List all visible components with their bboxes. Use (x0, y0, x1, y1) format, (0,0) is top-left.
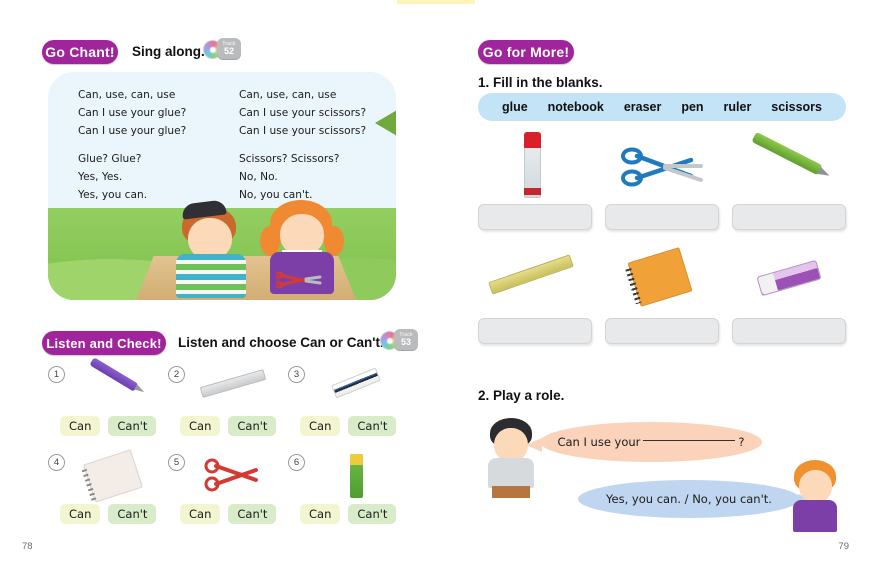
girl-avatar (788, 460, 844, 536)
track-badge: Track 53 (394, 329, 418, 351)
bubble-boy-prefix: Can I use your (557, 435, 640, 449)
answer-input-1[interactable] (478, 204, 592, 230)
choice-can[interactable]: Can (180, 504, 220, 524)
listen-item-5: 5 Can Can't (168, 450, 288, 538)
answer-input-5[interactable] (605, 318, 719, 344)
answer-input-6[interactable] (732, 318, 846, 344)
answer-input-3[interactable] (732, 204, 846, 230)
choice-cant[interactable]: Can't (348, 504, 396, 524)
listen-item-4: 4 Can Can't (48, 450, 168, 538)
listen-check-grid: 1 Can Can't 2 Can Can't 3 Can (48, 362, 408, 538)
chant-arrow-icon (375, 110, 396, 136)
fill-blank-cell-6 (732, 246, 846, 344)
listen-item-6: 6 Can Can't (288, 450, 408, 538)
choice-group: Can Can't (180, 416, 276, 436)
choice-cant[interactable]: Can't (108, 504, 156, 524)
lyric-line: Can I use your scissors? (239, 122, 378, 140)
choice-cant[interactable]: Can't (228, 504, 276, 524)
choice-can[interactable]: Can (60, 504, 100, 524)
lyrics-column-1: Can, use, can, use Can I use your glue? … (78, 86, 217, 204)
fill-blank-cell-3 (732, 132, 846, 230)
word-bank-item[interactable]: pen (681, 100, 703, 114)
sing-along-instruction: Sing along. (132, 44, 205, 59)
pen-icon (74, 364, 152, 410)
lyric-line: Scissors? Scissors? (239, 150, 378, 168)
go-for-more-badge: Go for More! (478, 40, 574, 64)
task1-title: Fill in the blanks. (493, 75, 603, 90)
answer-blank-line[interactable] (643, 440, 735, 441)
pen-icon (732, 132, 846, 204)
item-number: 5 (168, 454, 185, 471)
listen-check-row: 4 Can Can't 5 Can Can' (48, 450, 408, 538)
choice-cant[interactable]: Can't (228, 416, 276, 436)
task2-title: Play a role. (493, 388, 564, 403)
worksheet-page: Go Chant! Sing along. Track 52 Can, use,… (0, 0, 873, 566)
choice-can[interactable]: Can (60, 416, 100, 436)
task2-number: 2. (478, 388, 489, 403)
ruler-icon (478, 246, 592, 318)
boy-illustration (166, 202, 252, 294)
choice-group: Can Can't (60, 416, 156, 436)
lyric-line: Yes, you can. (78, 186, 217, 204)
eraser-icon (732, 246, 846, 318)
role-play-area: Can I use your ? Yes, you can. / No, you… (478, 414, 846, 524)
listen-and-check-badge: Listen and Check! (42, 331, 166, 355)
item-number: 1 (48, 366, 65, 383)
scissors-icon (194, 452, 272, 498)
lyric-line: Can I use your scissors? (239, 104, 378, 122)
listen-instruction: Listen and choose Can or Can't. (178, 335, 384, 350)
listen-check-row: 1 Can Can't 2 Can Can't 3 Can (48, 362, 408, 450)
lyric-line: Yes, Yes. (78, 168, 217, 186)
choice-can[interactable]: Can (180, 416, 220, 436)
fill-blank-cell-5 (605, 246, 719, 344)
task2-heading: 2. Play a role. (478, 388, 564, 403)
notebook-icon (605, 246, 719, 318)
scissors-icon (605, 132, 719, 204)
choice-can[interactable]: Can (300, 504, 340, 524)
fill-blanks-grid (478, 132, 846, 360)
lyric-line: Can, use, can, use (239, 86, 378, 104)
lyrics-column-2: Can, use, can, use Can I use your scisso… (239, 86, 378, 204)
choice-cant[interactable]: Can't (108, 416, 156, 436)
item-number: 2 (168, 366, 185, 383)
page-edge-sliver (397, 0, 475, 4)
page-number-left: 78 (22, 541, 33, 552)
choice-can[interactable]: Can (300, 416, 340, 436)
fill-blank-cell-4 (478, 246, 592, 344)
fill-blank-cell-2 (605, 132, 719, 230)
chant-lyrics: Can, use, can, use Can I use your glue? … (78, 86, 378, 204)
listen-item-3: 3 Can Can't (288, 362, 408, 450)
track-53-icon[interactable]: Track 53 (380, 329, 418, 351)
ruler-icon (194, 364, 272, 410)
task1-heading: 1. Fill in the blanks. (478, 75, 603, 90)
choice-group: Can Can't (300, 504, 396, 524)
word-bank-item[interactable]: ruler (724, 100, 752, 114)
bubble-boy-suffix: ? (738, 435, 744, 449)
item-number: 3 (288, 366, 305, 383)
scissors-illustration (276, 272, 322, 288)
item-number: 6 (288, 454, 305, 471)
go-chant-badge: Go Chant! (42, 40, 118, 64)
item-number: 4 (48, 454, 65, 471)
choice-group: Can Can't (300, 416, 396, 436)
choice-group: Can Can't (60, 504, 156, 524)
lyric-line: No, you can't. (239, 186, 378, 204)
lyric-line: No, No. (239, 168, 378, 186)
track-52-icon[interactable]: Track 52 (203, 38, 241, 60)
answer-input-4[interactable] (478, 318, 592, 344)
chant-panel: Can, use, can, use Can I use your glue? … (48, 72, 396, 300)
word-bank: glue notebook eraser pen ruler scissors (478, 93, 846, 121)
track-number: 52 (224, 47, 234, 56)
fill-blanks-row (478, 246, 846, 344)
listen-item-1: 1 Can Can't (48, 362, 168, 450)
glue-stick-icon (478, 132, 592, 204)
track-number: 53 (401, 338, 411, 347)
lyric-line: Can I use your glue? (78, 122, 217, 140)
notebook-icon (74, 452, 152, 498)
speech-bubble-girl: Yes, you can. / No, you can't. (578, 480, 800, 518)
word-bank-item[interactable]: glue (502, 100, 528, 114)
track-badge: Track 52 (217, 38, 241, 60)
task1-number: 1. (478, 75, 489, 90)
eraser-icon (314, 364, 392, 410)
word-bank-item[interactable]: scissors (771, 100, 822, 114)
word-bank-item[interactable]: notebook (548, 100, 604, 114)
choice-cant[interactable]: Can't (348, 416, 396, 436)
glue-icon (314, 452, 392, 498)
lyric-line: Glue? Glue? (78, 150, 217, 168)
boy-avatar (484, 418, 540, 498)
lyric-line: Can, use, can, use (78, 86, 217, 104)
listen-item-2: 2 Can Can't (168, 362, 288, 450)
lyric-line: Can I use your glue? (78, 104, 217, 122)
choice-group: Can Can't (180, 504, 276, 524)
fill-blank-cell-1 (478, 132, 592, 230)
speech-bubble-boy: Can I use your ? (540, 422, 762, 462)
fill-blanks-row (478, 132, 846, 230)
word-bank-item[interactable]: eraser (624, 100, 662, 114)
answer-input-2[interactable] (605, 204, 719, 230)
page-number-right: 79 (838, 541, 849, 552)
